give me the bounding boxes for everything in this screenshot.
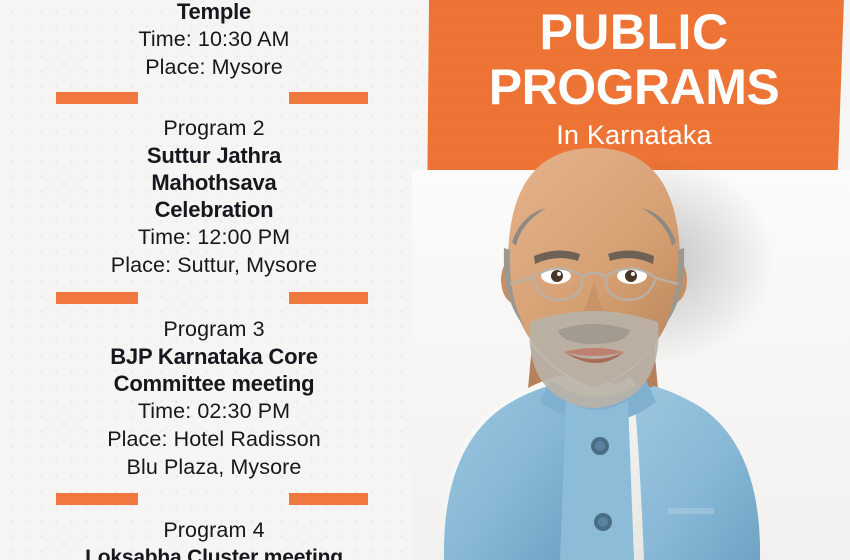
divider-2 — [18, 292, 410, 304]
program-entry-3: Program 3 BJP Karnataka Core Committee m… — [18, 315, 410, 481]
program-4-label: Program 4 — [18, 516, 410, 544]
portrait-illustration — [400, 130, 850, 560]
banner-text-group: PUBLIC PROGRAMS In Karnataka — [424, 0, 844, 154]
poster-canvas: PUBLIC PROGRAMS In Karnataka — [0, 0, 850, 560]
banner-subtitle: In Karnataka — [424, 116, 844, 154]
program-entry-4: Program 4 Loksabha Cluster meeting Time:… — [18, 516, 410, 560]
program-entry-2: Program 2 Suttur Jathra Mahothsava Celeb… — [18, 114, 410, 279]
portrait-photo — [400, 130, 850, 560]
program-2-title-line1: Suttur Jathra — [18, 142, 410, 169]
program-3-place-line2: Blu Plaza, Mysore — [18, 453, 410, 481]
divider-bar-left — [56, 292, 138, 304]
divider-bar-right — [289, 292, 368, 304]
program-entry-1: Temple Time: 10:30 AM Place: Mysore — [18, 0, 410, 81]
program-2-place: Place: Suttur, Mysore — [18, 251, 410, 279]
program-1-time: Time: 10:30 AM — [18, 25, 410, 53]
divider-3 — [18, 493, 410, 505]
program-2-label: Program 2 — [18, 114, 410, 142]
divider-bar-right — [289, 493, 368, 505]
program-1-place: Place: Mysore — [18, 53, 410, 81]
program-2-time: Time: 12:00 PM — [18, 223, 410, 251]
program-3-label: Program 3 — [18, 315, 410, 343]
program-3-title-line2: Committee meeting — [18, 370, 410, 397]
program-3-title-line1: BJP Karnataka Core — [18, 343, 410, 370]
banner-title-line1: PUBLIC — [424, 4, 844, 60]
program-2-title-line2: Mahothsava — [18, 169, 410, 196]
banner-title-line2: PROGRAMS — [424, 60, 844, 114]
program-3-place: Place: Hotel Radisson — [18, 425, 410, 453]
divider-bar-left — [56, 92, 138, 104]
program-1-title: Temple — [18, 0, 410, 25]
divider-bar-left — [56, 493, 138, 505]
program-2-title-line3: Celebration — [18, 196, 410, 223]
divider-bar-right — [289, 92, 368, 104]
schedule-column: Temple Time: 10:30 AM Place: Mysore Prog… — [0, 0, 428, 560]
divider-1 — [18, 92, 410, 104]
program-4-title-line1: Loksabha Cluster meeting — [18, 544, 410, 560]
program-3-time: Time: 02:30 PM — [18, 397, 410, 425]
